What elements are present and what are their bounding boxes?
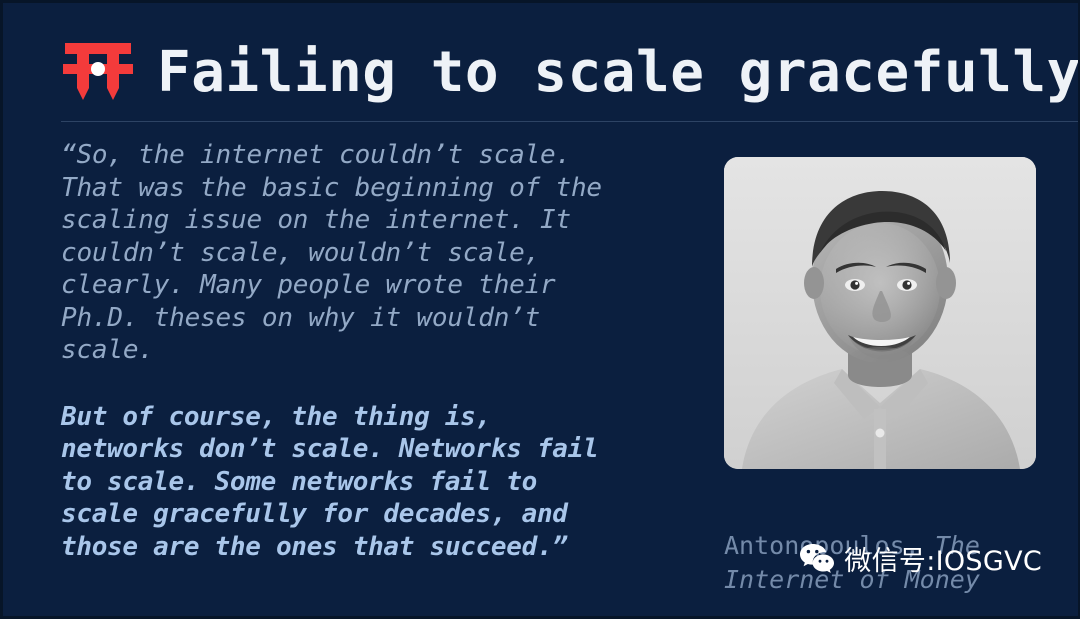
page-title: Failing to scale gracefully [157,45,1080,101]
portrait-photo [724,157,1036,469]
slide-header: Failing to scale gracefully [61,31,1078,115]
attribution-author: Antonopoulos, [724,531,935,560]
quote-paragraph-emphasis: But of course, the thing is, networks do… [61,401,639,564]
slide-body: “So, the internet couldn’t scale. That w… [61,139,1064,602]
portrait-column: Antonopoulos, The Internet of Money [724,157,1036,597]
header-divider [61,121,1078,122]
quote-paragraph-primary: “So, the internet couldn’t scale. That w… [61,139,639,367]
quote-column: “So, the internet couldn’t scale. That w… [61,139,639,563]
quote-attribution: Antonopoulos, The Internet of Money [724,495,1036,597]
torii-gate-logo-icon [61,41,135,105]
slide-canvas: Failing to scale gracefully “So, the int… [0,0,1080,619]
